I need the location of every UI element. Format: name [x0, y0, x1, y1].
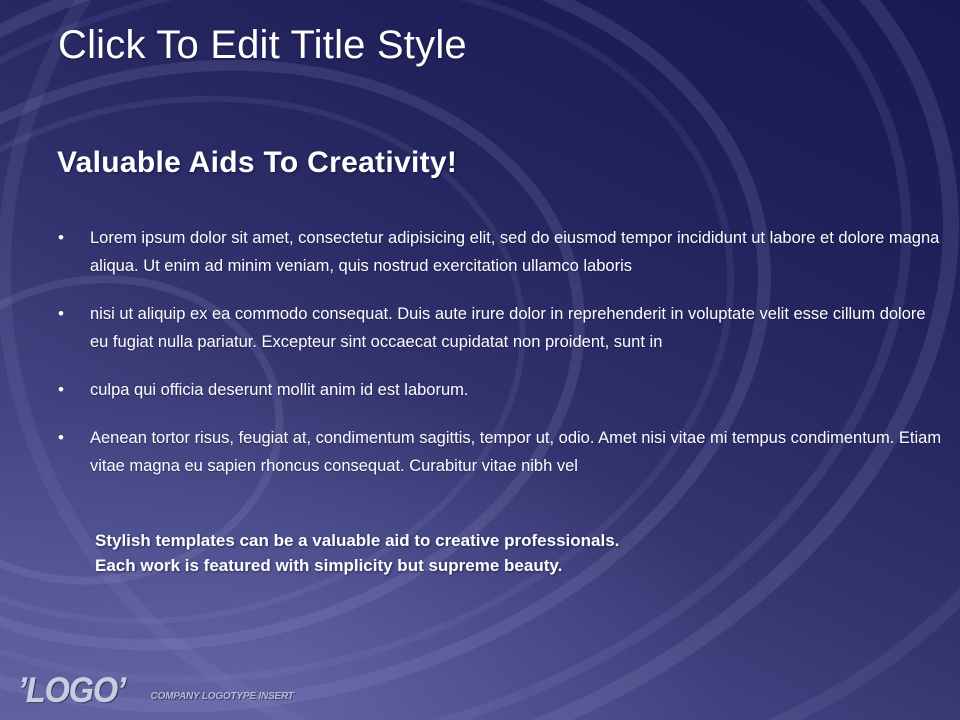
list-item-line: Aenean tortor risus, feugiat at, condime… [90, 429, 786, 447]
company-logo[interactable]: ’LOGO’ [18, 673, 125, 708]
bullet-list: • Lorem ipsum dolor sit amet, consectetu… [52, 224, 942, 500]
bullet-point-icon: • [52, 376, 90, 404]
closing-line-1: Stylish templates can be a valuable aid … [95, 528, 895, 553]
list-item[interactable]: • Lorem ipsum dolor sit amet, consectetu… [52, 224, 942, 280]
list-item-line: culpa qui officia deserunt mollit anim i… [90, 381, 468, 399]
list-item[interactable]: • culpa qui officia deserunt mollit anim… [52, 376, 942, 404]
slide-footer: ’LOGO’ COMPANY LOGOTYPE INSERT [18, 673, 294, 708]
slide-canvas: Click To Edit Title Style Valuable Aids … [0, 0, 960, 720]
list-item-text: nisi ut aliquip ex ea commodo consequat.… [90, 300, 942, 356]
list-item-text: Aenean tortor risus, feugiat at, condime… [90, 424, 942, 480]
bullet-point-icon: • [52, 224, 90, 252]
list-item[interactable]: • Aenean tortor risus, feugiat at, condi… [52, 424, 942, 480]
logo-caption: COMPANY LOGOTYPE INSERT [151, 691, 294, 702]
page-title[interactable]: Click To Edit Title Style [58, 22, 918, 68]
list-item[interactable]: • nisi ut aliquip ex ea commodo consequa… [52, 300, 942, 356]
closing-line-2: Each work is featured with simplicity bu… [95, 553, 895, 578]
list-item-text: culpa qui officia deserunt mollit anim i… [90, 376, 942, 404]
section-heading[interactable]: Valuable Aids To Creativity! [57, 146, 917, 180]
bullet-point-icon: • [52, 300, 90, 328]
list-item-line: nisi ut aliquip ex ea commodo consequat.… [90, 305, 789, 323]
list-item-line: Lorem ipsum dolor sit amet, consectetur … [90, 229, 815, 247]
closing-statement[interactable]: Stylish templates can be a valuable aid … [95, 528, 895, 578]
bullet-point-icon: • [52, 424, 90, 452]
list-item-text: Lorem ipsum dolor sit amet, consectetur … [90, 224, 942, 280]
